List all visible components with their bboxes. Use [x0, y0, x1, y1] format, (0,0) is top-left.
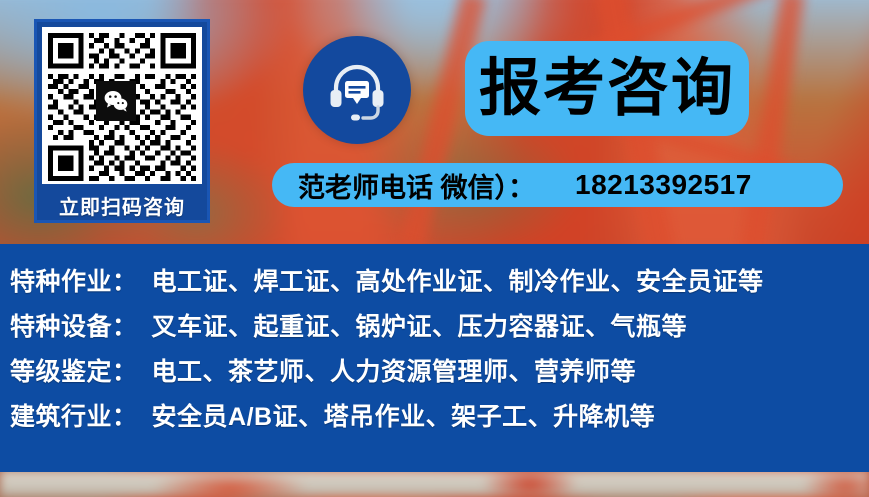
contact-number[interactable]: 18213392517	[575, 169, 752, 201]
headset-icon	[324, 57, 390, 123]
background-photo-bottom	[0, 470, 869, 497]
info-row: 特种作业： 电工证、焊工证、高处作业证、制冷作业、安全员证等	[10, 262, 869, 298]
info-row: 建筑行业： 安全员A/B证、塔吊作业、架子工、升降机等	[10, 397, 869, 433]
qr-code-area	[42, 27, 202, 184]
info-row-label: 特种作业：	[10, 262, 138, 298]
page-title: 报考咨询	[479, 58, 735, 120]
info-row-items: 电工证、焊工证、高处作业证、制冷作业、安全员证等	[152, 262, 764, 298]
info-row-items: 叉车证、起重证、锅炉证、压力容器证、气瓶等	[152, 307, 688, 343]
wechat-icon	[96, 81, 136, 121]
certification-info-panel: 特种作业： 电工证、焊工证、高处作业证、制冷作业、安全员证等 特种设备： 叉车证…	[0, 244, 869, 472]
info-row-items: 安全员A/B证、塔吊作业、架子工、升降机等	[152, 397, 656, 433]
info-row: 等级鉴定： 电工、茶艺师、人力资源管理师、营养师等	[10, 352, 869, 388]
info-row-label: 等级鉴定：	[10, 352, 138, 388]
info-row: 特种设备： 叉车证、起重证、锅炉证、压力容器证、气瓶等	[10, 307, 869, 343]
title-pill: 报考咨询	[465, 41, 749, 136]
info-row-label: 建筑行业：	[10, 397, 138, 433]
qr-card[interactable]: 立即扫码咨询	[34, 19, 210, 223]
contact-label: 范老师电话 微信）：	[298, 166, 535, 205]
contact-pill[interactable]: 范老师电话 微信）： 18213392517	[272, 163, 843, 207]
headset-support-badge[interactable]	[303, 36, 411, 144]
qr-card-caption: 立即扫码咨询	[59, 191, 185, 220]
info-row-items: 电工、茶艺师、人力资源管理师、营养师等	[152, 352, 637, 388]
promo-banner: 立即扫码咨询 报考咨询 范老师电话 微信）： 18213392517 特种作业：…	[0, 0, 869, 497]
info-row-label: 特种设备：	[10, 307, 138, 343]
